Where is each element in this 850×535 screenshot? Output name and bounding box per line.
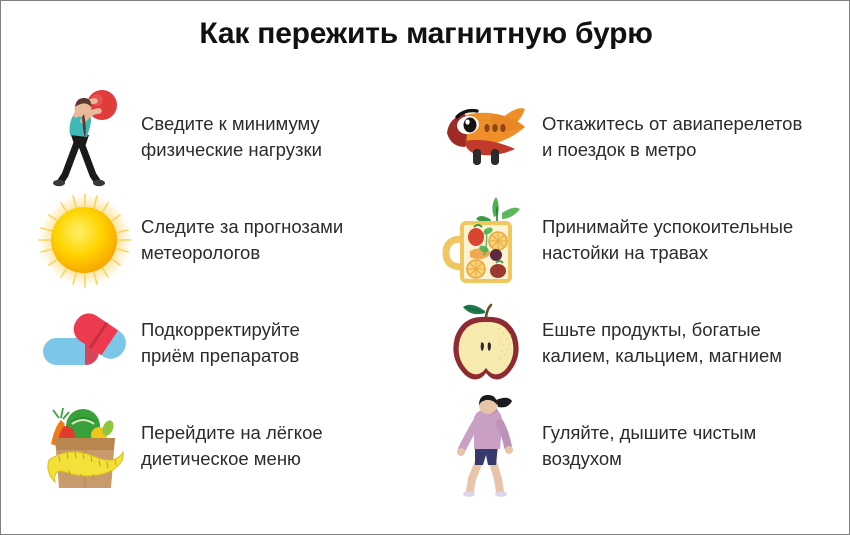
list-item: Принимайте успокоительные настойки на тр… <box>426 188 850 291</box>
list-item-label: Откажитесь от авиаперелетов и поездок в … <box>534 111 850 163</box>
list-item-label: Следите за прогнозами метеорологов <box>133 214 391 266</box>
pills-capsules-icon <box>37 291 133 394</box>
halved-apple-icon <box>438 291 534 394</box>
list-item: Сведите к минимуму физические нагрузки <box>1 85 426 188</box>
grocery-bag-with-measuring-tape-icon <box>37 394 133 497</box>
list-item: Следите за прогнозами метеорологов <box>1 188 426 291</box>
page-title: Как пережить магнитную бурю <box>1 17 850 51</box>
woman-exercising-with-ball-icon <box>37 85 133 188</box>
list-item: Подкорректируйте приём препаратов <box>1 291 426 394</box>
airplane-icon <box>438 85 534 188</box>
herbal-infusion-mug-icon <box>438 188 534 291</box>
left-column: Сведите к минимуму физические нагрузки <box>1 85 426 497</box>
list-item-label: Подкорректируйте приём препаратов <box>133 317 391 369</box>
list-item: Гуляйте, дышите чистым воздухом <box>426 394 850 497</box>
list-item: Откажитесь от авиаперелетов и поездок в … <box>426 85 850 188</box>
list-item: Перейдите на лёгкое диетическое меню <box>1 394 426 497</box>
list-item-label: Гуляйте, дышите чистым воздухом <box>534 420 850 472</box>
list-item-label: Ешьте продукты, богатые калием, кальцием… <box>534 317 850 369</box>
list-item: Ешьте продукты, богатые калием, кальцием… <box>426 291 850 394</box>
infographic-root: Как пережить магнитную бурю <box>0 0 850 535</box>
list-item-label: Принимайте успокоительные настойки на тр… <box>534 214 850 266</box>
list-item-label: Сведите к минимуму физические нагрузки <box>133 111 391 163</box>
list-item-label: Перейдите на лёгкое диетическое меню <box>133 420 391 472</box>
content-columns: Сведите к минимуму физические нагрузки <box>1 85 850 497</box>
sun-icon <box>37 188 133 291</box>
walking-person-icon <box>438 394 534 497</box>
right-column: Откажитесь от авиаперелетов и поездок в … <box>426 85 850 497</box>
